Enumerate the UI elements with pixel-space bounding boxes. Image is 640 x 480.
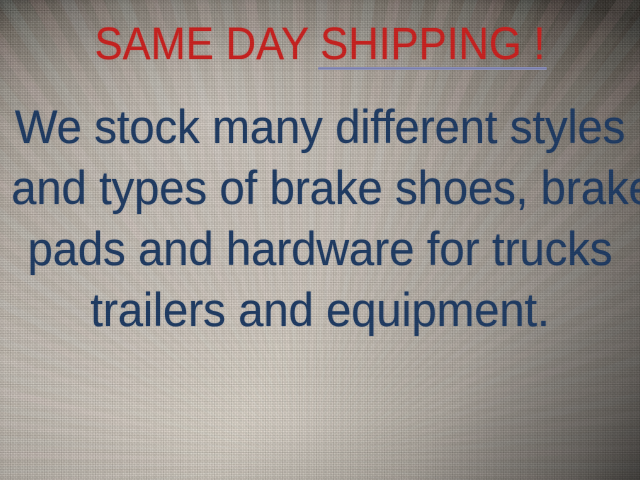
headline-underlined-part: SHIPPING !: [320, 20, 545, 68]
slide-content: SAME DAY SHIPPING ! We stock many differ…: [0, 0, 640, 480]
headline-prefix: SAME DAY: [95, 18, 321, 69]
headline: SAME DAY SHIPPING !: [22, 20, 617, 68]
body-paragraph: We stock many different styles and types…: [11, 96, 629, 340]
body-line-3: pads and hardware for trucks: [11, 218, 629, 279]
body-line-4: trailers and equipment.: [11, 279, 629, 340]
screen-photo: SAME DAY SHIPPING ! We stock many differ…: [0, 0, 640, 480]
body-line-2: and types of brake shoes, brake: [11, 157, 629, 218]
body-line-1: We stock many different styles: [11, 96, 629, 157]
